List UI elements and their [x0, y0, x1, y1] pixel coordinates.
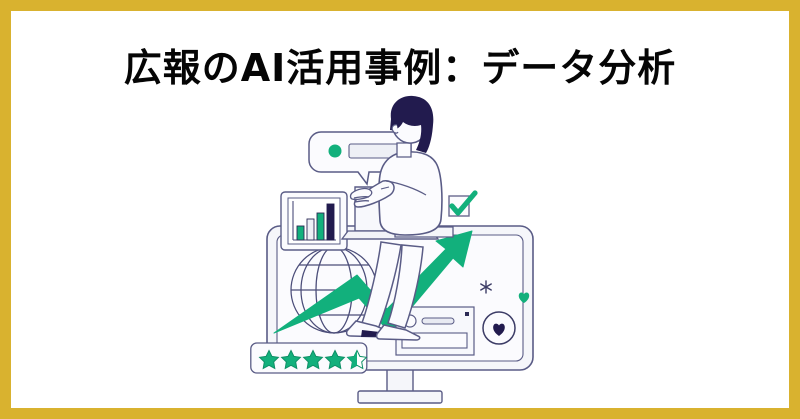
illustration-svg — [250, 95, 550, 405]
page-title: 広報のAI活用事例：データ分析 — [11, 47, 789, 90]
bar-4 — [327, 204, 334, 240]
star-rating — [251, 343, 367, 373]
data-analysis-illustration — [11, 95, 789, 408]
heart-badge — [483, 312, 515, 344]
bar-chart-panel — [281, 192, 347, 250]
bar-3 — [317, 213, 324, 240]
check-badge — [449, 193, 475, 216]
poster-card: 広報のAI活用事例：データ分析 — [0, 0, 800, 419]
monitor-stand — [358, 367, 442, 403]
bar-1 — [297, 226, 304, 240]
bar-2 — [307, 219, 314, 240]
bubble-status-dot — [329, 145, 342, 158]
poster-inner: 広報のAI活用事例：データ分析 — [11, 11, 789, 408]
